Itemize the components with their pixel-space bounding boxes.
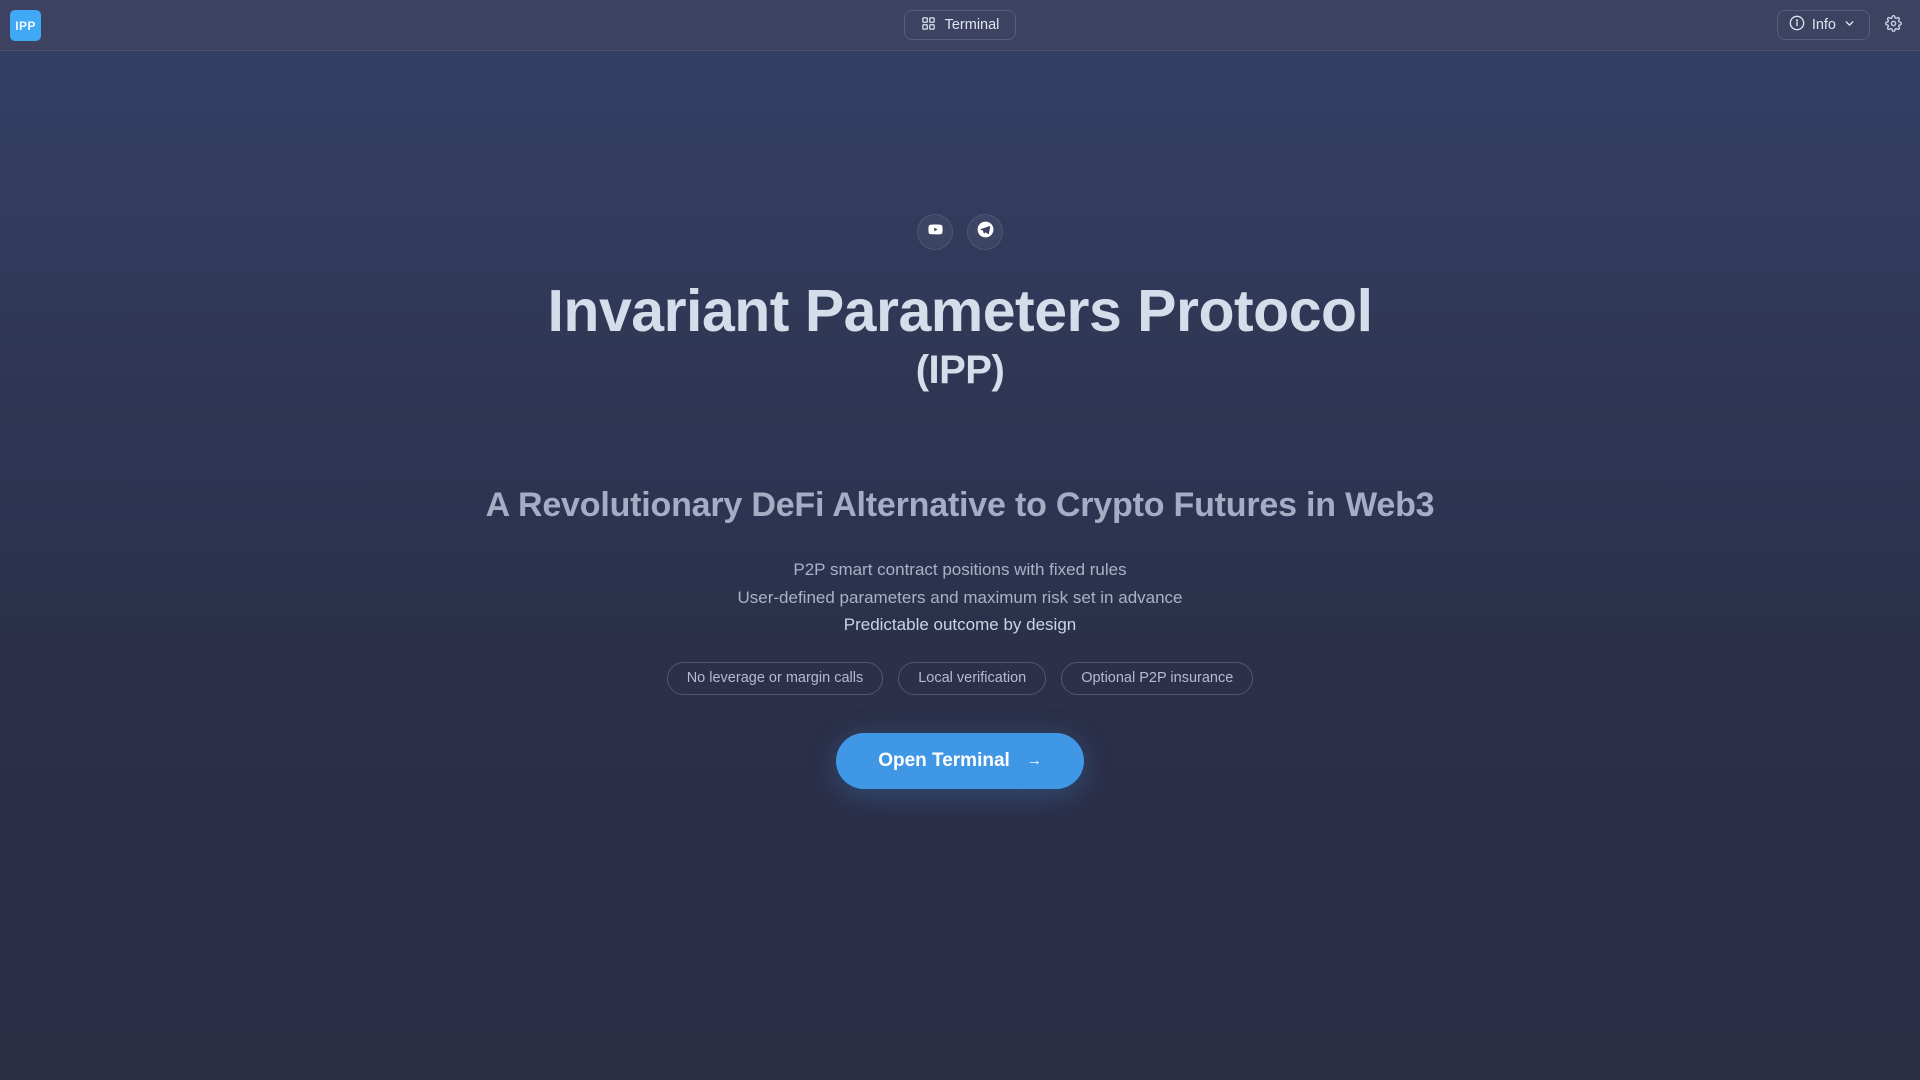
feature-chip-local-verification[interactable]: Local verification [898, 662, 1046, 695]
open-terminal-label: Open Terminal [878, 750, 1010, 772]
open-terminal-button[interactable]: Open Terminal → [836, 733, 1084, 789]
feature-chip-p2p-insurance[interactable]: Optional P2P insurance [1061, 662, 1253, 695]
chevron-down-icon [1843, 17, 1856, 34]
youtube-link[interactable] [917, 214, 953, 250]
top-navigation-bar: IPP Terminal [0, 0, 1920, 51]
settings-button[interactable] [1878, 10, 1908, 40]
page-title-abbreviation: (IPP) [530, 346, 1390, 394]
arrow-right-icon: → [1027, 753, 1042, 768]
layout-grid-icon [921, 16, 936, 35]
topbar-right-group: Info [1777, 10, 1908, 40]
hero-description-line: User-defined parameters and maximum risk… [737, 584, 1182, 612]
landing-page: IPP Terminal [0, 0, 1920, 1080]
tab-terminal[interactable]: Terminal [904, 10, 1017, 40]
social-links [917, 214, 1003, 250]
info-circle-icon [1789, 15, 1805, 35]
info-dropdown-button[interactable]: Info [1777, 10, 1870, 40]
telegram-icon [976, 220, 995, 244]
hero-section: Invariant Parameters Protocol (IPP) A Re… [0, 51, 1920, 1080]
info-dropdown-label: Info [1812, 17, 1836, 33]
feature-chip-no-leverage[interactable]: No leverage or margin calls [667, 662, 884, 695]
hero-description-line: P2P smart contract positions with fixed … [737, 556, 1182, 584]
hero-description-line: Predictable outcome by design [737, 611, 1182, 639]
cta-container: Open Terminal → [836, 733, 1084, 789]
youtube-icon [927, 221, 944, 243]
tab-terminal-label: Terminal [945, 17, 1000, 33]
page-title-main: Invariant Parameters Protocol [548, 278, 1373, 344]
gear-icon [1885, 15, 1902, 35]
page-title: Invariant Parameters Protocol (IPP) [530, 278, 1390, 394]
hero-description: P2P smart contract positions with fixed … [737, 556, 1182, 639]
feature-chips: No leverage or margin calls Local verifi… [667, 662, 1254, 695]
topbar-center-group: Terminal [0, 10, 1920, 40]
hero-subtitle: A Revolutionary DeFi Alternative to Cryp… [460, 478, 1460, 532]
telegram-link[interactable] [967, 214, 1003, 250]
